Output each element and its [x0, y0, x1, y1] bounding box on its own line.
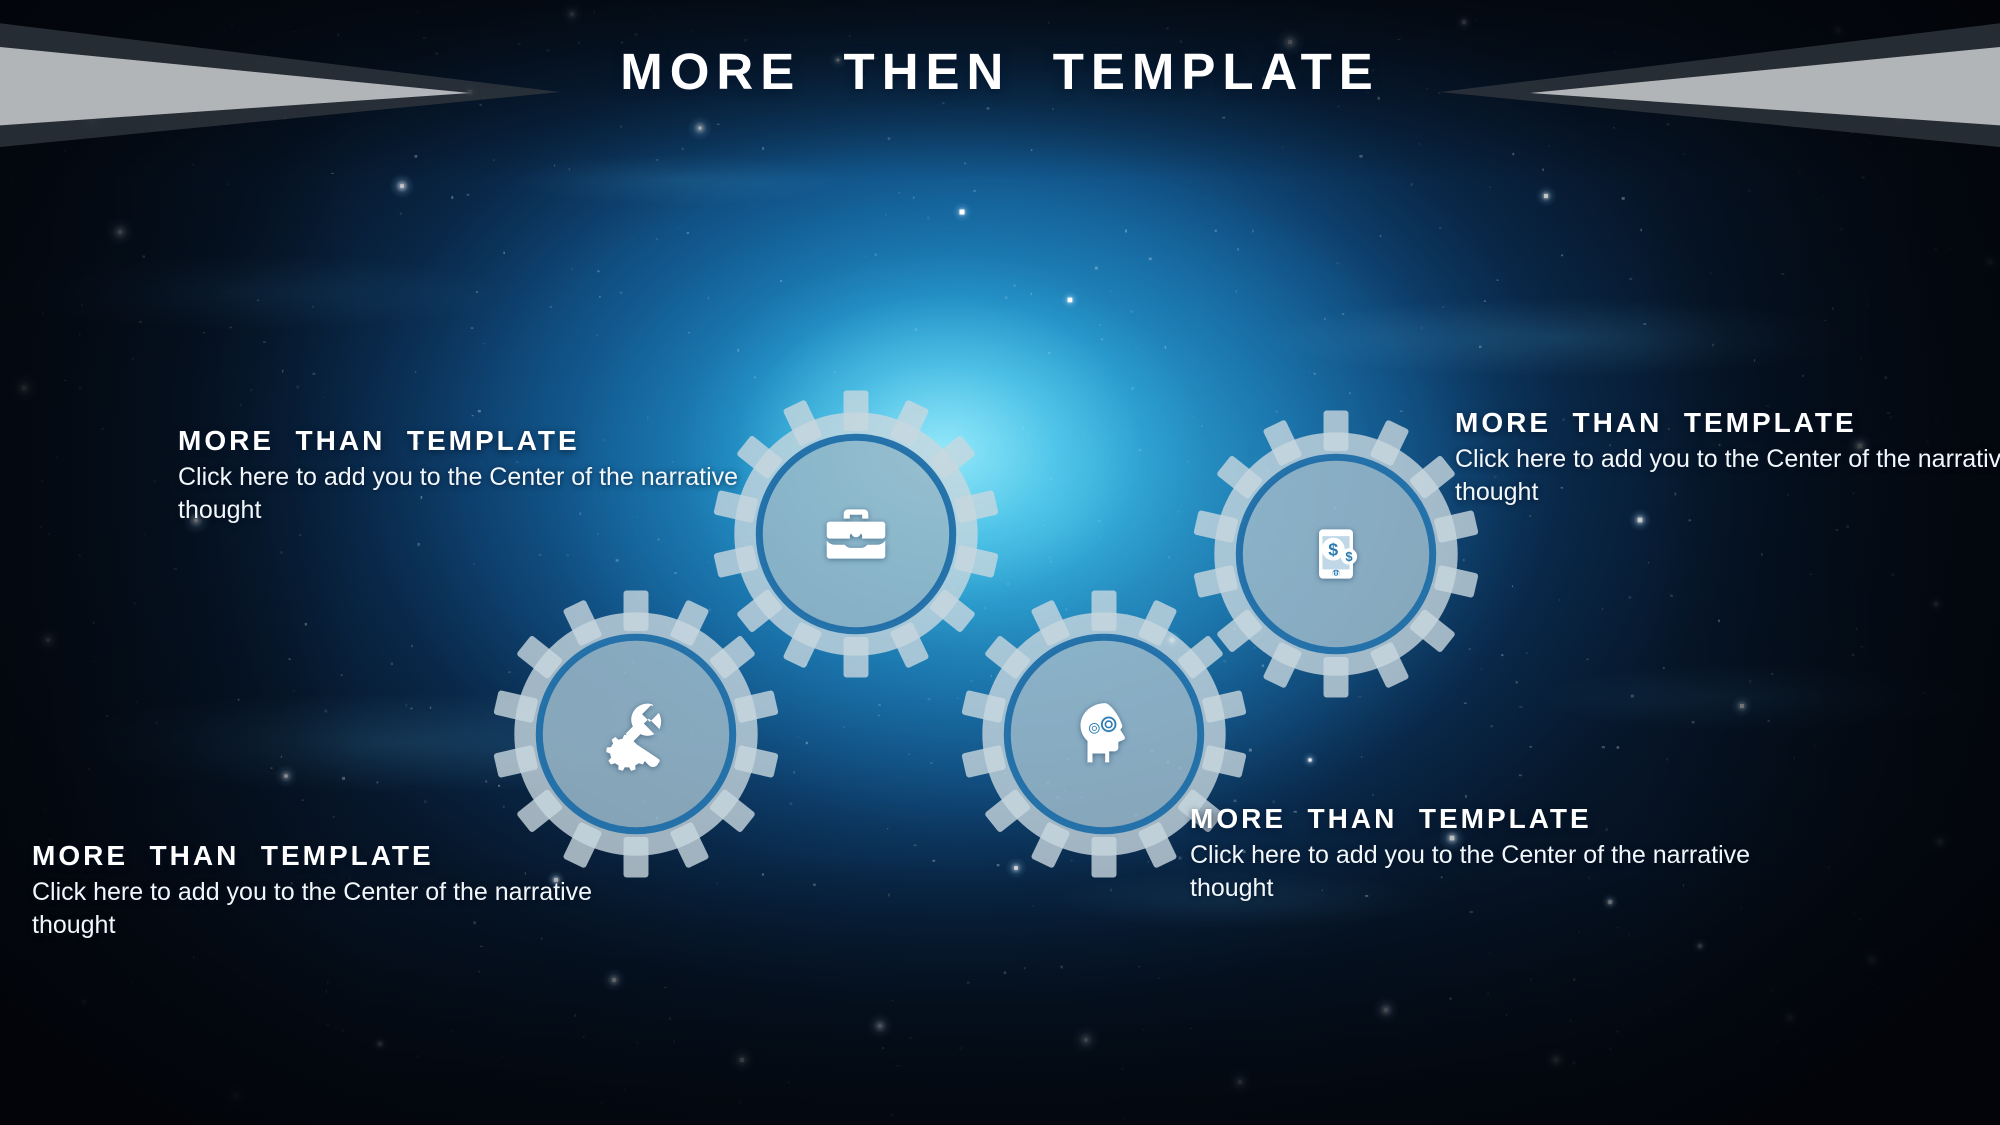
- caption-heading: MORE THAN TEMPLATE: [1190, 803, 1830, 835]
- gear-mobile-payment[interactable]: $ $: [1180, 398, 1492, 710]
- caption-bottom-right[interactable]: MORE THAN TEMPLATE Click here to add you…: [1190, 803, 1830, 904]
- svg-text:$: $: [1328, 540, 1338, 560]
- caption-body: Click here to add you to the Center of t…: [32, 876, 632, 941]
- gear-diagram: $ $: [0, 0, 2000, 1125]
- caption-body: Click here to add you to the Center of t…: [1190, 839, 1790, 904]
- head-gears-icon: [1064, 694, 1144, 774]
- mobile-payment-icon: $ $: [1299, 517, 1373, 591]
- caption-bottom-left[interactable]: MORE THAN TEMPLATE Click here to add you…: [32, 840, 672, 941]
- caption-body: Click here to add you to the Center of t…: [1455, 443, 2000, 508]
- caption-body: Click here to add you to the Center of t…: [178, 461, 778, 526]
- caption-heading: MORE THAN TEMPLATE: [32, 840, 672, 872]
- caption-heading: MORE THAN TEMPLATE: [1455, 407, 2000, 439]
- svg-text:$: $: [1345, 549, 1353, 564]
- caption-top-left[interactable]: MORE THAN TEMPLATE Click here to add you…: [178, 425, 818, 526]
- wrench-gear-icon: [594, 692, 678, 776]
- presentation-slide: MORE THEN TEMPLATE: [0, 0, 2000, 1125]
- briefcase-icon: [819, 497, 893, 571]
- caption-top-right[interactable]: MORE THAN TEMPLATE Click here to add you…: [1455, 407, 2000, 508]
- caption-heading: MORE THAN TEMPLATE: [178, 425, 818, 457]
